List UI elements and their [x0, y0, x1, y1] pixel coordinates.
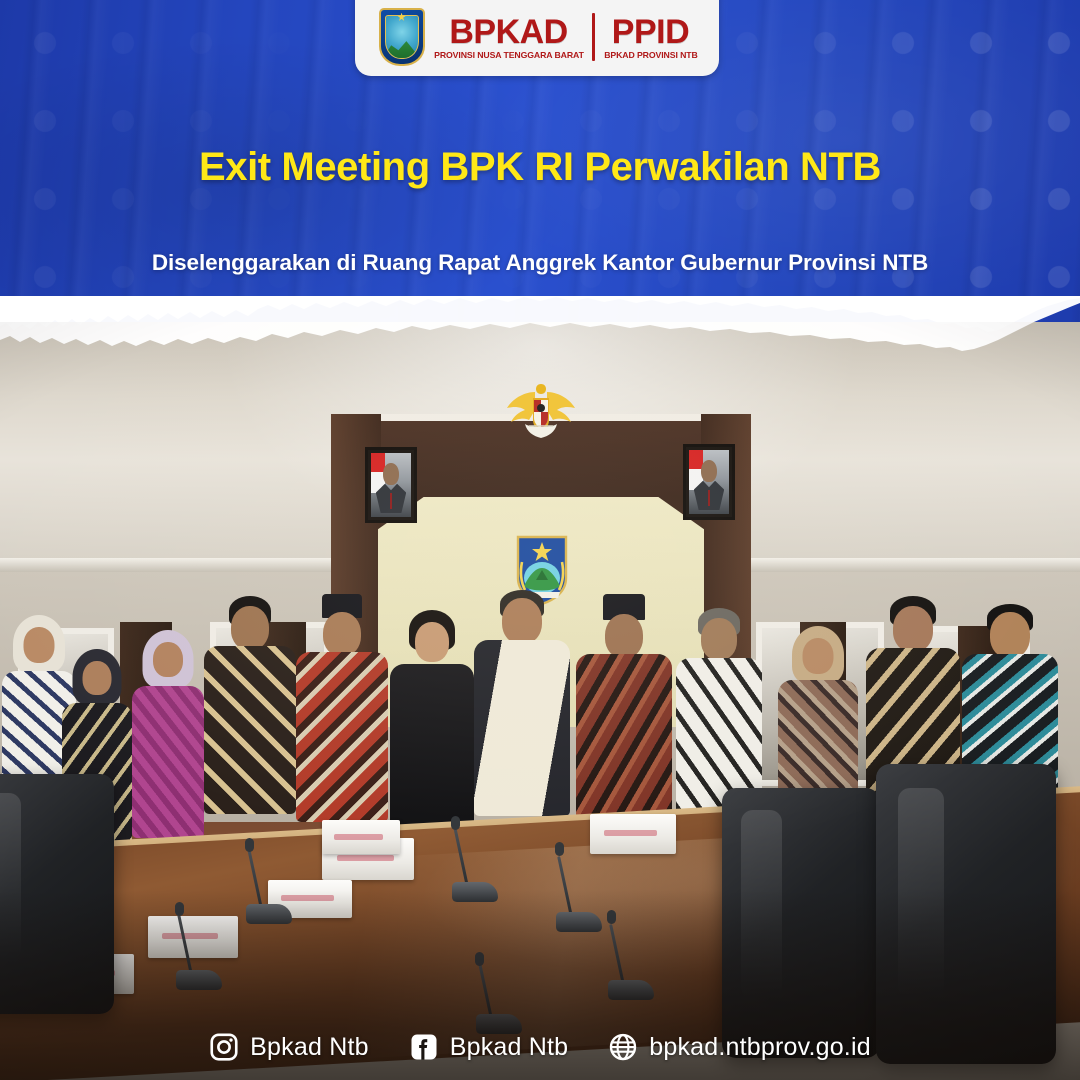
brand-bpkad-sub: PROVINSI NUSA TENGGARA BARAT: [434, 51, 584, 59]
social-instagram-label: Bpkad Ntb: [250, 1033, 369, 1062]
vice-president-portrait: [683, 444, 735, 520]
social-instagram[interactable]: Bpkad Ntb: [209, 1032, 369, 1062]
social-website[interactable]: bpkad.ntbprov.go.id: [608, 1032, 871, 1062]
snack-box-6: [322, 820, 400, 854]
logo-card: BPKAD PROVINSI NUSA TENGGARA BARAT PPID …: [355, 0, 719, 76]
globe-icon: [608, 1032, 638, 1062]
social-website-label: bpkad.ntbprov.go.id: [649, 1033, 871, 1062]
president-portrait: [365, 447, 417, 523]
poster-subtitle: Diselenggarakan di Ruang Rapat Anggrek K…: [0, 250, 1080, 276]
footer-social-bar: Bpkad Ntb Bpkad Ntb bpkad.ntbprov.go.id: [0, 1032, 1080, 1062]
poster-canvas: BPKAD PROVINSI NUSA TENGGARA BARAT PPID …: [0, 0, 1080, 1080]
logo-wordmark: BPKAD PROVINSI NUSA TENGGARA BARAT PPID …: [437, 13, 696, 61]
brand-ppid-main: PPID: [612, 15, 689, 49]
poster-title: Exit Meeting BPK RI Perwakilan NTB: [0, 145, 1080, 190]
garuda-pancasila-emblem-icon: [505, 380, 577, 442]
social-facebook-label: Bpkad Ntb: [450, 1033, 569, 1062]
brand-bpkad: BPKAD PROVINSI NUSA TENGGARA BARAT: [437, 15, 581, 59]
ntb-provincial-crest-icon: [379, 8, 425, 66]
brand-ppid: PPID BPKAD PROVINSI NTB: [606, 15, 696, 59]
group-photo-meeting-room: [0, 322, 1080, 1080]
brand-ppid-sub: BPKAD PROVINSI NTB: [604, 51, 697, 59]
instagram-icon: [209, 1032, 239, 1062]
social-facebook[interactable]: Bpkad Ntb: [409, 1032, 569, 1062]
person-4: [204, 596, 296, 868]
facebook-icon: [409, 1032, 439, 1062]
brand-divider: [592, 13, 595, 61]
brand-bpkad-main: BPKAD: [449, 15, 567, 49]
